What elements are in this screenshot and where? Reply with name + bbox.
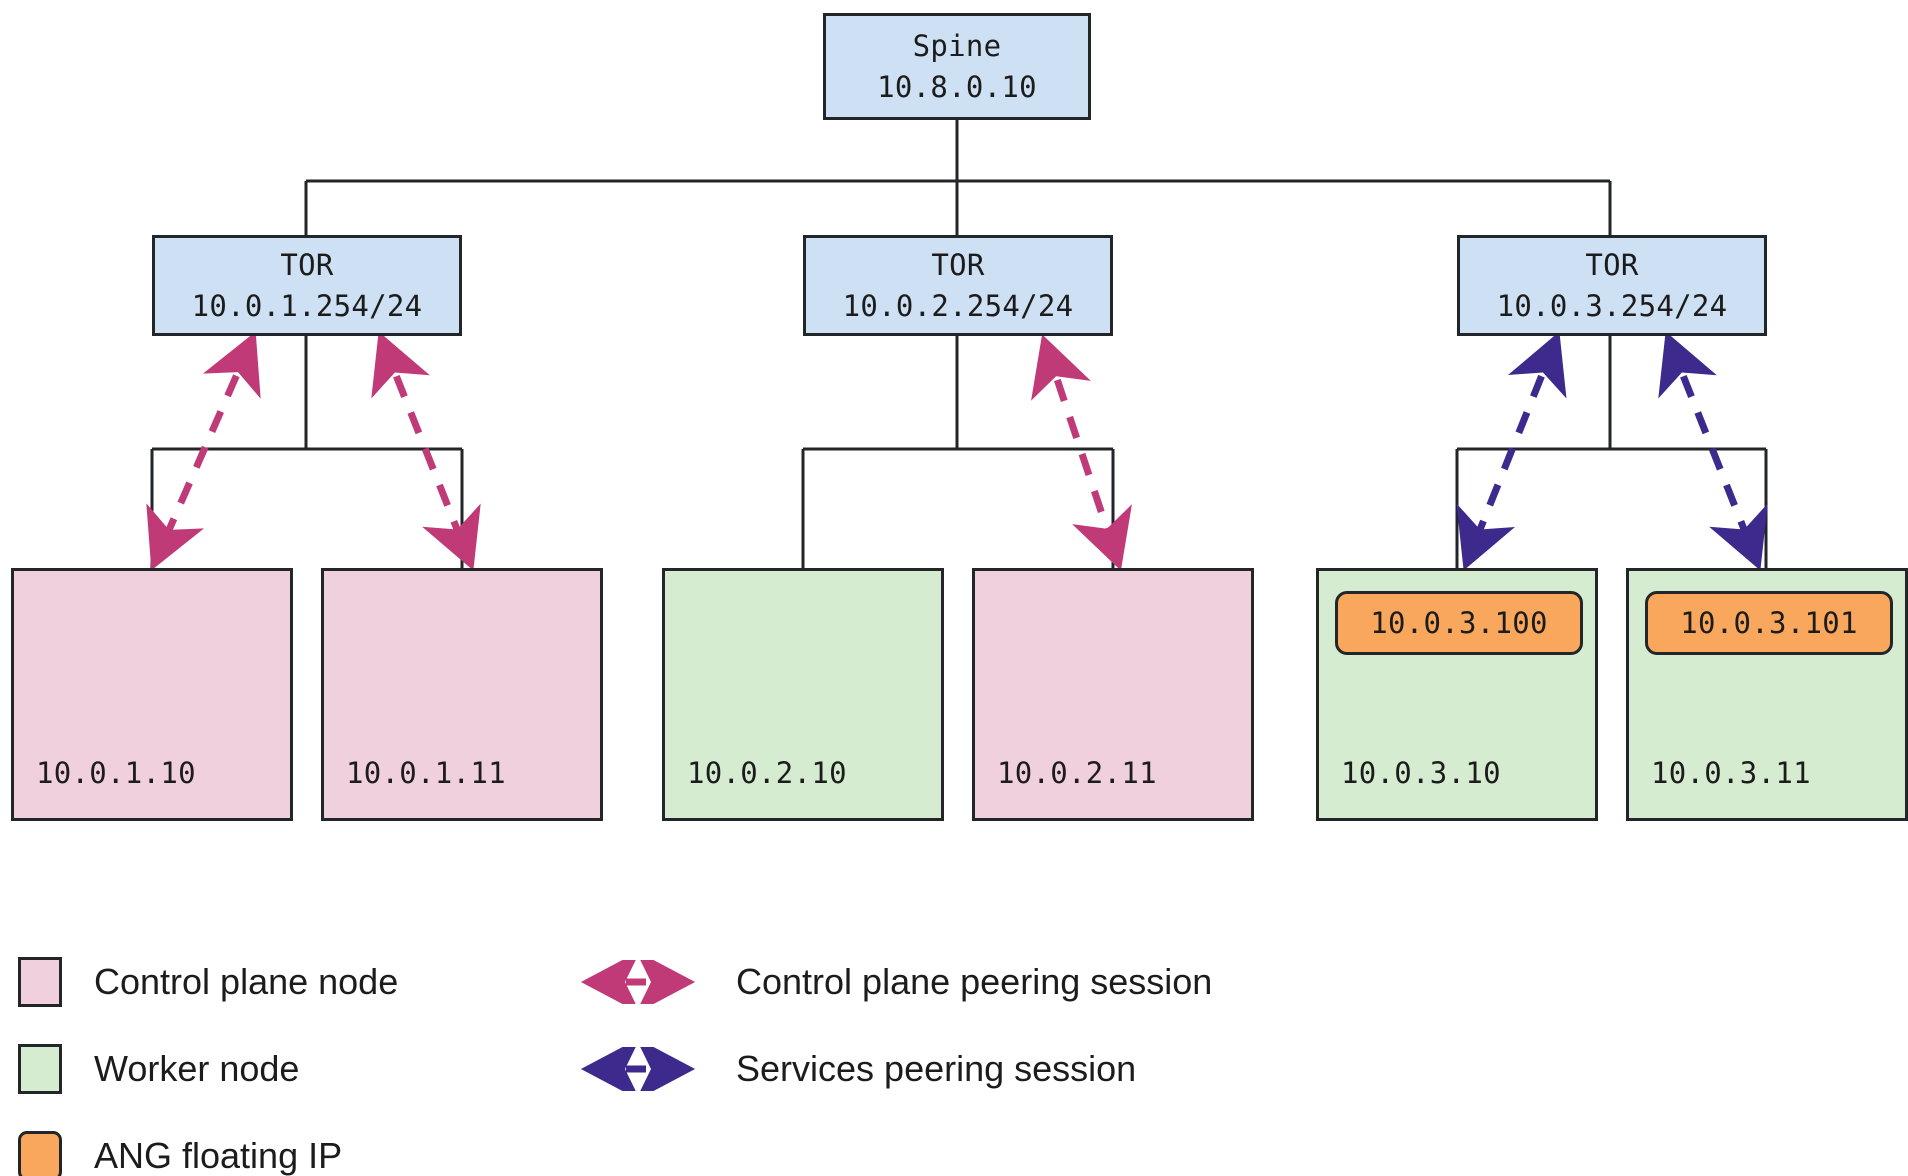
- peering-edge-10-0-3-100: [1467, 340, 1556, 562]
- spine-address: 10.8.0.10: [877, 67, 1037, 107]
- tor-role-label: TOR: [1585, 245, 1638, 285]
- node-address: 10.0.2.10: [687, 756, 847, 790]
- legend-label: Worker node: [94, 1048, 299, 1090]
- peering-edge-10-0-1-10: [155, 340, 252, 562]
- control-plane-peering-edges: [155, 340, 1118, 562]
- legend-item-ang-floating-ip: ANG floating IP: [18, 1127, 342, 1176]
- peering-edge-10-0-1-11: [382, 340, 470, 562]
- legend-item-control-plane-node: Control plane node: [18, 953, 398, 1011]
- control-plane-peering-line-icon: [568, 960, 708, 1004]
- legend-label: Control plane node: [94, 961, 398, 1003]
- worker-node-swatch: [18, 1044, 62, 1094]
- legend-label: Services peering session: [736, 1048, 1136, 1090]
- tor-role-label: TOR: [931, 245, 984, 285]
- node-10-0-3-11[interactable]: 10.0.3.101 10.0.3.11: [1626, 568, 1908, 821]
- node-10-0-1-11[interactable]: 10.0.1.11: [321, 568, 603, 821]
- node-address: 10.0.3.11: [1651, 756, 1811, 790]
- legend-item-control-plane-peering: Control plane peering session: [568, 953, 1212, 1011]
- floating-ip-10-0-3-100[interactable]: 10.0.3.100: [1335, 591, 1583, 655]
- node-10-0-2-10[interactable]: 10.0.2.10: [662, 568, 944, 821]
- node-address: 10.0.1.10: [36, 756, 196, 790]
- legend-item-services-peering: Services peering session: [568, 1040, 1136, 1098]
- peering-edge-10-0-3-101: [1669, 340, 1757, 562]
- node-10-0-2-11[interactable]: 10.0.2.11: [972, 568, 1254, 821]
- node-10-0-3-10[interactable]: 10.0.3.100 10.0.3.10: [1316, 568, 1598, 821]
- node-address: 10.0.3.10: [1341, 756, 1501, 790]
- floating-ip-10-0-3-101[interactable]: 10.0.3.101: [1645, 591, 1893, 655]
- spine-to-tor-links: [306, 120, 1610, 235]
- node-address: 10.0.2.11: [997, 756, 1157, 790]
- tor-address: 10.0.2.254/24: [843, 286, 1074, 326]
- tor-address: 10.0.1.254/24: [192, 286, 423, 326]
- control-plane-node-swatch: [18, 957, 62, 1007]
- peering-edge-10-0-2-11: [1045, 343, 1118, 562]
- rack-3-tor-to-node-links: [1457, 336, 1766, 568]
- legend-item-worker-node: Worker node: [18, 1040, 299, 1098]
- legend-label: ANG floating IP: [94, 1135, 342, 1176]
- tor-switch-rack-3[interactable]: TOR 10.0.3.254/24: [1457, 235, 1767, 336]
- rack-2-tor-to-node-links: [803, 336, 1113, 568]
- services-peering-edges: [1467, 340, 1757, 562]
- services-peering-line-icon: [568, 1047, 708, 1091]
- legend-label: Control plane peering session: [736, 961, 1212, 1003]
- tor-switch-rack-1[interactable]: TOR 10.0.1.254/24: [152, 235, 462, 336]
- tor-role-label: TOR: [280, 245, 333, 285]
- rack-1-tor-to-node-links: [152, 336, 462, 568]
- floating-ip-swatch: [18, 1131, 62, 1176]
- spine-role-label: Spine: [913, 26, 1002, 66]
- network-topology-diagram: Spine 10.8.0.10 TOR 10.0.1.254/24 TOR 10…: [0, 0, 1908, 1176]
- node-10-0-1-10[interactable]: 10.0.1.10: [11, 568, 293, 821]
- tor-address: 10.0.3.254/24: [1497, 286, 1728, 326]
- node-address: 10.0.1.11: [346, 756, 506, 790]
- tor-switch-rack-2[interactable]: TOR 10.0.2.254/24: [803, 235, 1113, 336]
- legend: Control plane node Worker node ANG float…: [0, 925, 1908, 1175]
- spine-switch[interactable]: Spine 10.8.0.10: [823, 13, 1091, 120]
